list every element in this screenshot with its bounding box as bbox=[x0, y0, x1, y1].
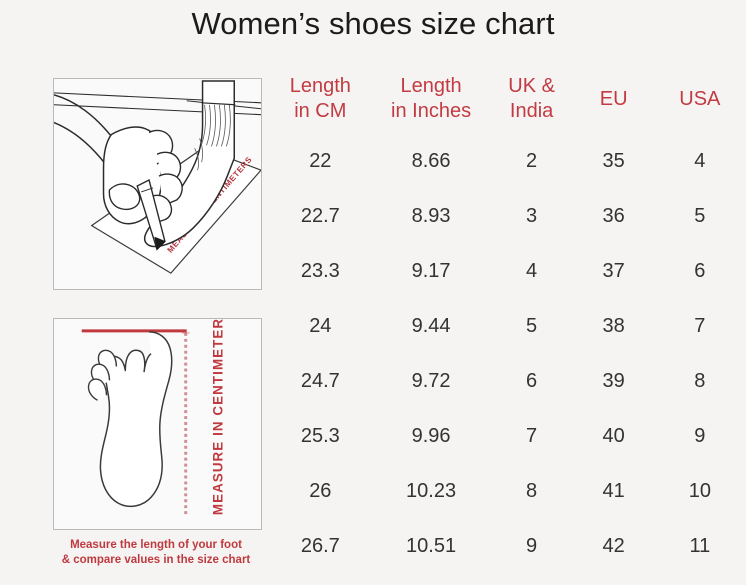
cell-length-inches: 8.93 bbox=[373, 189, 490, 244]
cell-length-cm: 25.3 bbox=[268, 409, 373, 464]
table-header-row: Length in CM Length in Inches UK & India… bbox=[268, 64, 746, 134]
cell-length-inches: 9.72 bbox=[373, 354, 490, 409]
svg-text:MEASURE IN CENTIMETERS: MEASURE IN CENTIMETERS bbox=[210, 319, 225, 515]
table-row: 24 9.44 5 38 7 bbox=[268, 299, 746, 354]
cell-length-inches: 9.96 bbox=[373, 409, 490, 464]
cell-usa: 7 bbox=[654, 299, 746, 354]
hand-tracing-foot-icon: MEASURE IN CENTIMETERS bbox=[54, 79, 261, 289]
caption-line-1: Measure the length of your foot bbox=[70, 539, 242, 551]
cell-uk-india: 6 bbox=[490, 354, 574, 409]
cell-uk-india: 7 bbox=[490, 409, 574, 464]
cell-length-inches: 10.23 bbox=[373, 464, 490, 519]
cell-eu: 39 bbox=[574, 354, 654, 409]
cell-uk-india: 9 bbox=[490, 519, 574, 574]
cell-eu: 36 bbox=[574, 189, 654, 244]
column-header-eu: EU bbox=[574, 64, 654, 134]
column-header-uk-india: UK & India bbox=[490, 64, 574, 134]
table-row: 23.3 9.17 4 37 6 bbox=[268, 244, 746, 299]
cell-eu: 42 bbox=[574, 519, 654, 574]
illustration-hand-tracing-foot: MEASURE IN CENTIMETERS bbox=[53, 78, 262, 290]
cell-length-cm: 22 bbox=[268, 134, 373, 189]
cell-eu: 38 bbox=[574, 299, 654, 354]
cell-uk-india: 3 bbox=[490, 189, 574, 244]
header-line-1: UK & bbox=[490, 74, 574, 99]
cell-length-inches: 9.44 bbox=[373, 299, 490, 354]
caption-line-2: & compare values in the size chart bbox=[62, 554, 251, 566]
column-header-usa: USA bbox=[654, 64, 746, 134]
cell-length-cm: 24.7 bbox=[268, 354, 373, 409]
cell-uk-india: 5 bbox=[490, 299, 574, 354]
header-line-1: Length bbox=[373, 74, 490, 99]
cell-usa: 9 bbox=[654, 409, 746, 464]
cell-usa: 5 bbox=[654, 189, 746, 244]
cell-length-cm: 23.3 bbox=[268, 244, 373, 299]
header-line-2: India bbox=[490, 99, 574, 124]
cell-length-inches: 8.66 bbox=[373, 134, 490, 189]
header-line-2: in CM bbox=[268, 99, 373, 124]
cell-uk-india: 4 bbox=[490, 244, 574, 299]
illustration-caption: Measure the length of your foot & compar… bbox=[33, 538, 279, 568]
cell-uk-india: 8 bbox=[490, 464, 574, 519]
illustration-foot-outline: MEASURE IN CENTIMETERS bbox=[53, 318, 262, 530]
cell-usa: 10 bbox=[654, 464, 746, 519]
cell-uk-india: 2 bbox=[490, 134, 574, 189]
table-row: 26 10.23 8 41 10 bbox=[268, 464, 746, 519]
cell-length-inches: 10.51 bbox=[373, 519, 490, 574]
header-line-1: USA bbox=[654, 87, 746, 112]
cell-usa: 4 bbox=[654, 134, 746, 189]
cell-length-cm: 22.7 bbox=[268, 189, 373, 244]
cell-length-inches: 9.17 bbox=[373, 244, 490, 299]
cell-eu: 35 bbox=[574, 134, 654, 189]
column-header-length-inches: Length in Inches bbox=[373, 64, 490, 134]
cell-length-cm: 26 bbox=[268, 464, 373, 519]
page-title: Women’s shoes size chart bbox=[0, 6, 746, 42]
cell-usa: 6 bbox=[654, 244, 746, 299]
cell-length-cm: 24 bbox=[268, 299, 373, 354]
illustration-column: MEASURE IN CENTIMETERS bbox=[0, 70, 268, 575]
table-row: 22 8.66 2 35 4 bbox=[268, 134, 746, 189]
table-row: 24.7 9.72 6 39 8 bbox=[268, 354, 746, 409]
column-header-length-cm: Length in CM bbox=[268, 64, 373, 134]
header-line-2: in Inches bbox=[373, 99, 490, 124]
cell-usa: 8 bbox=[654, 354, 746, 409]
table-row: 26.7 10.51 9 42 11 bbox=[268, 519, 746, 574]
cell-usa: 11 bbox=[654, 519, 746, 574]
header-line-1: EU bbox=[574, 87, 654, 112]
table-row: 22.7 8.93 3 36 5 bbox=[268, 189, 746, 244]
cell-eu: 41 bbox=[574, 464, 654, 519]
header-line-1: Length bbox=[268, 74, 373, 99]
cell-eu: 40 bbox=[574, 409, 654, 464]
cell-eu: 37 bbox=[574, 244, 654, 299]
foot-outline-ruler-icon: MEASURE IN CENTIMETERS bbox=[54, 319, 261, 529]
cell-length-cm: 26.7 bbox=[268, 519, 373, 574]
table-row: 25.3 9.96 7 40 9 bbox=[268, 409, 746, 464]
size-chart-table: Length in CM Length in Inches UK & India… bbox=[268, 64, 746, 574]
